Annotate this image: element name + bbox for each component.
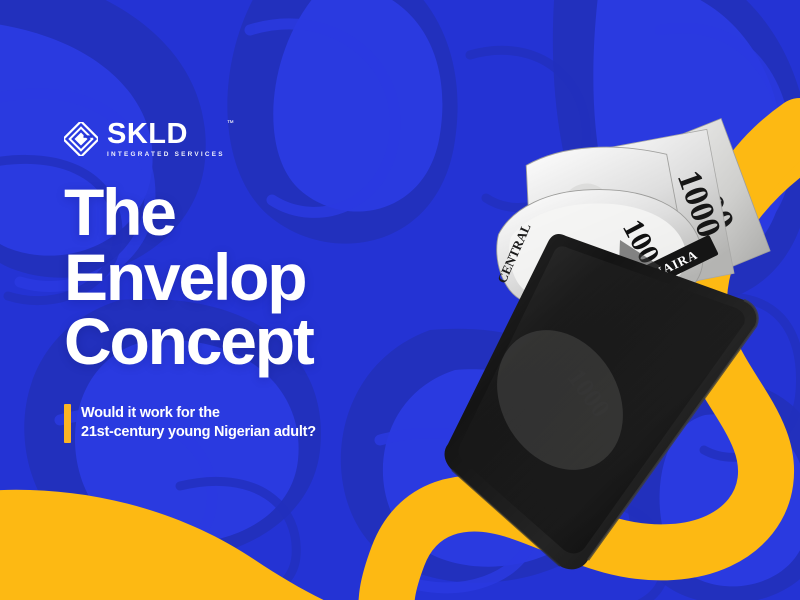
subtitle-line-1: Would it work for the: [81, 404, 316, 423]
subtitle-line-2: 21st-century young Nigerian adult?: [81, 423, 316, 442]
subtitle-text: Would it work for the 21st-century young…: [81, 404, 316, 443]
logo-tagline: INTEGRATED SERVICES: [107, 152, 225, 158]
trademark-symbol: ™: [227, 120, 234, 127]
headline-line-2: Envelop: [64, 245, 313, 310]
subtitle-block: Would it work for the 21st-century young…: [64, 404, 316, 443]
logo-wordmark-group: SKLD™ INTEGRATED SERVICES: [107, 120, 225, 158]
headline-line-3: Concept: [64, 309, 313, 374]
skld-diamond-icon: [64, 122, 98, 156]
brand-logo[interactable]: SKLD™ INTEGRATED SERVICES: [64, 120, 225, 158]
headline-line-1: The: [64, 180, 313, 245]
page-title: The Envelop Concept: [64, 180, 313, 374]
poster-canvas: 1000 1000: [0, 0, 800, 600]
logo-wordmark: SKLD™: [107, 120, 225, 149]
accent-bar: [64, 404, 71, 443]
